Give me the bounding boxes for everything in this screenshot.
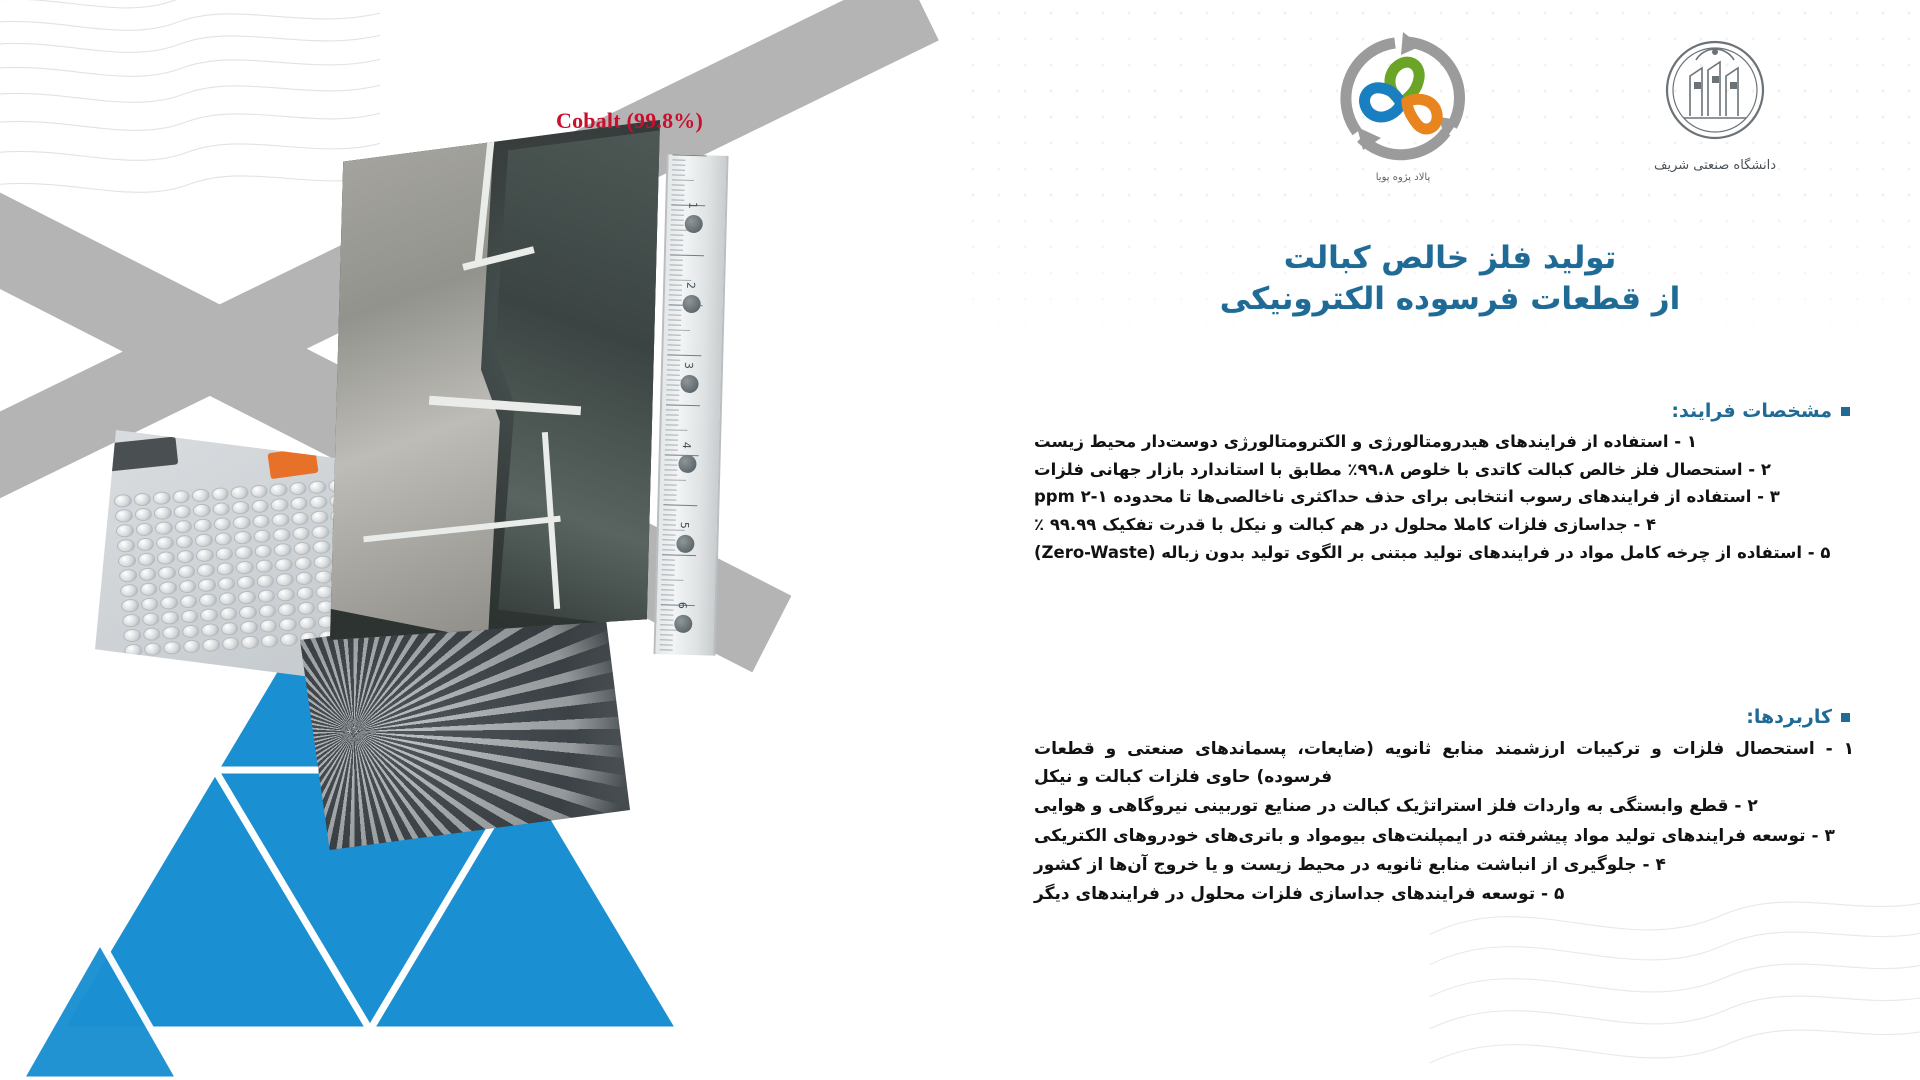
- ruler-tick: [665, 429, 687, 431]
- section-process-heading-text: مشخصات فرایند:: [1671, 400, 1832, 422]
- battery-cell: [220, 622, 238, 636]
- page-title-line-2: از قطعات فرسوده الکترونیکی: [1050, 279, 1850, 320]
- battery-cell: [256, 574, 274, 588]
- ruler-tick: [664, 489, 677, 490]
- ruler-tick: [671, 224, 684, 225]
- ruler-tick: [670, 264, 683, 265]
- ruler-tick: [662, 544, 675, 545]
- ruler-tick: [671, 214, 684, 215]
- page-title-line-1: تولید فلز خالص کبالت: [1284, 240, 1617, 276]
- ruler-tick: [668, 324, 681, 325]
- battery-cell: [251, 499, 269, 513]
- ruler-tick: [662, 554, 696, 556]
- ruler-tick: [663, 504, 697, 506]
- ruler-tick: [665, 449, 678, 450]
- ruler-tick: [666, 409, 679, 410]
- battery-cell: [313, 540, 331, 554]
- battery-cell: [152, 491, 170, 505]
- battery-cell: [241, 635, 259, 649]
- battery-cell: [216, 562, 234, 576]
- page-title: تولید فلز خالص کبالت از قطعات فرسوده الک…: [1050, 238, 1850, 320]
- battery-cell: [217, 577, 235, 591]
- ruler-tick: [662, 569, 675, 570]
- battery-cell: [252, 514, 270, 528]
- ruler-tick: [669, 284, 682, 285]
- ruler-tick: [661, 589, 674, 590]
- list-item: ۵ - توسعه فرایندهای جداسازی فلزات محلول …: [1034, 880, 1854, 908]
- ruler-tick: [664, 484, 677, 485]
- ruler-number: 1: [686, 202, 699, 209]
- ruler-tick: [672, 174, 685, 175]
- battery-cell: [273, 528, 291, 542]
- ruler-tick: [666, 414, 679, 415]
- ruler-tick: [671, 194, 684, 195]
- ruler-tick: [668, 344, 681, 345]
- battery-cell: [309, 495, 327, 509]
- battery-cell: [237, 575, 255, 589]
- ruler-tick: [664, 479, 686, 481]
- battery-cell: [235, 546, 253, 560]
- battery-cell: [158, 566, 176, 580]
- sharif-logo-caption: دانشگاه صنعتی شریف: [1620, 158, 1810, 173]
- ruler-tick: [671, 209, 684, 210]
- battery-cell: [231, 501, 249, 515]
- ruler-tick: [667, 359, 680, 360]
- battery-cell: [218, 592, 236, 606]
- ruler-tick: [670, 239, 683, 240]
- ruler-tick: [670, 234, 683, 235]
- ruler-hole: [682, 295, 700, 313]
- poster-canvas: 123456 Cobalt (99.8%): [0, 0, 1920, 1080]
- list-item: ۳ - استفاده از فرایندهای رسوب انتخابی بر…: [1034, 484, 1854, 511]
- battery-cell: [234, 531, 252, 545]
- ruler-tick: [672, 159, 685, 160]
- battery-cell: [257, 589, 275, 603]
- battery-cell: [177, 565, 195, 579]
- battery-cell: [155, 521, 173, 535]
- battery-cell: [200, 608, 218, 622]
- section-applications-list: ۱ - استحصال فلزات و ترکیبات ارزشمند مناب…: [1034, 735, 1854, 908]
- ruler-tick: [660, 624, 673, 625]
- battery-cell: [199, 593, 217, 607]
- battery-cell: [240, 620, 258, 634]
- ruler-tick: [669, 299, 682, 300]
- battery-cell: [290, 497, 308, 511]
- battery-cell: [274, 543, 292, 557]
- battery-cell: [139, 582, 157, 596]
- battery-cell: [134, 507, 152, 521]
- ruler-tick: [661, 599, 674, 600]
- ruler-tick: [667, 384, 680, 385]
- battery-cell: [250, 484, 268, 498]
- ruler-hole: [685, 215, 703, 233]
- ruler-tick: [660, 639, 673, 640]
- battery-cell: [236, 561, 254, 575]
- ruler-number: 4: [680, 442, 693, 449]
- battery-cell: [160, 596, 178, 610]
- section-process-list: ۱ - استفاده از فرایندهای هیدرومتالورژی و…: [1034, 429, 1854, 567]
- content-panel: پالاد پژوه پویا: [960, 0, 1920, 1080]
- battery-cell: [308, 480, 326, 494]
- ruler-tick: [664, 469, 677, 470]
- sharif-university-logo: دانشگاه صنعتی شریف: [1620, 30, 1810, 195]
- list-item: ۴ - جداسازی فلزات کاملا محلول در هم کبال…: [1034, 512, 1854, 539]
- ruler-hole: [674, 615, 692, 633]
- cobalt-cathode-sample-photo: [330, 120, 660, 640]
- ruler-tick: [670, 259, 683, 260]
- list-item: ۴ - جلوگیری از انباشت منابع ثانویه در مح…: [1034, 851, 1854, 879]
- battery-cell: [254, 544, 272, 558]
- battery-cell: [178, 580, 196, 594]
- battery-cell: [118, 554, 136, 568]
- logo-row: پالاد پژوه پویا: [1220, 18, 1860, 198]
- square-bullet-icon: [1841, 407, 1850, 416]
- battery-cell: [232, 516, 250, 530]
- battery-cell: [296, 586, 314, 600]
- battery-cell: [153, 506, 171, 520]
- ruler-tick: [666, 389, 679, 390]
- ruler-number: 2: [684, 282, 697, 289]
- ruler-tick: [667, 354, 701, 356]
- battery-cell: [192, 503, 210, 517]
- ruler-tick: [671, 199, 684, 200]
- battery-cell: [113, 494, 131, 508]
- ruler-tick: [665, 424, 678, 425]
- battery-cell: [195, 533, 213, 547]
- battery-cell: [156, 536, 174, 550]
- battery-cell: [289, 482, 307, 496]
- ruler-tick: [663, 534, 676, 535]
- battery-cell: [314, 555, 332, 569]
- battery-cell: [179, 595, 197, 609]
- ruler-tick: [670, 269, 683, 270]
- ruler-tick: [663, 519, 676, 520]
- ruler-tick: [661, 594, 674, 595]
- ruler-number: 6: [676, 602, 689, 609]
- battery-cell: [277, 588, 295, 602]
- ruler-tick: [670, 254, 704, 256]
- ruler-tick: [670, 244, 683, 245]
- battery-cell: [253, 529, 271, 543]
- ruler-tick: [668, 319, 681, 320]
- battery-cell: [291, 512, 309, 526]
- battery-cell: [293, 541, 311, 555]
- square-bullet-icon: [1841, 713, 1850, 722]
- battery-cell: [258, 604, 276, 618]
- battery-cell: [298, 616, 316, 630]
- battery-cell: [133, 493, 151, 507]
- ruler-tick: [663, 529, 685, 531]
- list-item: ۲ - قطع وابستگی به واردات فلز استراتژیک …: [1034, 792, 1854, 820]
- battery-cell: [292, 526, 310, 540]
- university-emblem-icon: [1650, 30, 1780, 158]
- battery-cell: [117, 539, 135, 553]
- ruler-tick: [660, 614, 673, 615]
- list-item: ۳ - توسعه فرایندهای تولید مواد پیشرفته د…: [1034, 822, 1854, 850]
- ruler-tick: [666, 399, 679, 400]
- ruler-tick: [672, 179, 694, 181]
- ruler-tick: [665, 444, 678, 445]
- ruler-tick: [668, 339, 681, 340]
- ruler-tick: [661, 609, 674, 610]
- battery-cell: [172, 490, 190, 504]
- list-item: ۱ - استفاده از فرایندهای هیدرومتالورژی و…: [1034, 429, 1854, 456]
- section-applications-heading: کاربردها:: [1034, 706, 1854, 728]
- battery-cell: [180, 609, 198, 623]
- image-collage-panel: 123456 Cobalt (99.8%): [0, 0, 980, 1080]
- ruler-tick: [667, 364, 680, 365]
- battery-cell: [140, 597, 158, 611]
- ruler-tick: [669, 274, 682, 275]
- battery-cell: [159, 581, 177, 595]
- recycle-arrows-icon: [1333, 28, 1473, 166]
- battery-cell: [141, 612, 159, 626]
- battery-cell: [193, 518, 211, 532]
- list-item: ۱ - استحصال فلزات و ترکیبات ارزشمند مناب…: [1034, 735, 1854, 791]
- battery-cell: [114, 509, 132, 523]
- ruler-tick: [664, 464, 677, 465]
- battery-cell: [142, 627, 160, 641]
- ruler-hole: [678, 455, 696, 473]
- ruler-tick: [668, 309, 681, 310]
- recycle-logo-caption: پالاد پژوه پویا: [1328, 172, 1478, 183]
- battery-cell: [116, 524, 134, 538]
- ruler-hole: [676, 535, 694, 553]
- ruler-tick: [672, 184, 685, 185]
- battery-cell: [122, 614, 140, 628]
- battery-cell: [270, 498, 288, 512]
- ruler-tick: [662, 549, 675, 550]
- ruler-tick: [668, 314, 681, 315]
- battery-cell: [213, 517, 231, 531]
- cobalt-purity-label: Cobalt (99.8%): [556, 108, 703, 134]
- ruler-tick: [667, 374, 680, 375]
- ruler-tick: [661, 579, 683, 581]
- ruler-tick: [666, 404, 700, 406]
- ruler-tick: [672, 189, 685, 190]
- battery-cell: [121, 599, 139, 613]
- battery-cell: [182, 639, 200, 653]
- battery-cell: [181, 624, 199, 638]
- battery-cell: [215, 547, 233, 561]
- ruler-tick: [661, 584, 674, 585]
- section-applications-heading-text: کاربردها:: [1746, 706, 1832, 728]
- ruler-tick: [669, 294, 682, 295]
- battery-cell: [163, 641, 181, 655]
- ruler-tick: [664, 494, 677, 495]
- ruler-tick: [672, 164, 685, 165]
- battery-cell: [219, 607, 237, 621]
- ruler-tick: [662, 564, 675, 565]
- battery-cell: [174, 520, 192, 534]
- ruler-tick: [662, 574, 675, 575]
- battery-cell: [198, 578, 216, 592]
- ruler-tick: [664, 474, 677, 475]
- ruler-tick: [663, 499, 676, 500]
- ruler-number: 3: [682, 362, 695, 369]
- ruler-tick: [660, 634, 673, 635]
- ruler-tick: [665, 434, 678, 435]
- ruler-tick: [669, 279, 691, 281]
- battery-cell: [295, 571, 313, 585]
- ruler-tick: [671, 219, 684, 220]
- battery-cell: [175, 535, 193, 549]
- section-process-heading: مشخصات فرایند:: [1034, 400, 1854, 422]
- ruler-tick: [672, 169, 685, 170]
- battery-cell: [157, 551, 175, 565]
- battery-cell: [259, 619, 277, 633]
- battery-cell: [162, 626, 180, 640]
- battery-cell: [315, 570, 333, 584]
- battery-cell: [214, 532, 232, 546]
- section-process: مشخصات فرایند: ۱ - استفاده از فرایندهای …: [1034, 400, 1854, 568]
- ruler-tick: [670, 249, 683, 250]
- list-item: ۲ - استحصال فلز خالص کبالت کاتدی با خلوص…: [1034, 457, 1854, 484]
- battery-cell: [276, 573, 294, 587]
- battery-cell: [212, 502, 230, 516]
- battery-cell: [161, 611, 179, 625]
- ruler-tick: [668, 334, 681, 335]
- battery-cell: [294, 556, 312, 570]
- ruler-tick: [662, 559, 675, 560]
- ruler-tick: [667, 349, 680, 350]
- section-applications: کاربردها: ۱ - استحصال فلزات و ترکیبات ار…: [1034, 706, 1854, 909]
- battery-cell: [137, 552, 155, 566]
- ruler-tick: [667, 369, 680, 370]
- ruler-tick: [660, 649, 673, 650]
- battery-cell: [255, 559, 273, 573]
- battery-cell: [202, 638, 220, 652]
- battery-cell: [275, 558, 293, 572]
- ruler-tick: [666, 419, 679, 420]
- battery-cell: [211, 487, 229, 501]
- ruler-tick: [663, 514, 676, 515]
- battery-cell: [230, 486, 248, 500]
- ruler-tick: [663, 509, 676, 510]
- battery-cell: [123, 629, 141, 643]
- ruler-tick: [665, 439, 678, 440]
- battery-cell: [310, 510, 328, 524]
- recycle-logo: پالاد پژوه پویا: [1328, 28, 1478, 198]
- battery-cell: [119, 569, 137, 583]
- battery-cell: [197, 563, 215, 577]
- ruler-number: 5: [678, 522, 691, 529]
- ruler-tick: [660, 619, 673, 620]
- battery-cell: [260, 634, 278, 648]
- list-item: ۵ - استفاده از چرخه کامل مواد در فراینده…: [1034, 540, 1854, 567]
- battery-cell: [201, 623, 219, 637]
- battery-cell: [271, 513, 289, 527]
- battery-cell: [135, 522, 153, 536]
- ruler-tick: [662, 539, 675, 540]
- battery-cell: [196, 548, 214, 562]
- battery-cell: [221, 637, 239, 651]
- battery-cell: [176, 550, 194, 564]
- battery-cell: [280, 633, 298, 647]
- ruler-tick: [663, 524, 676, 525]
- battery-cell: [297, 601, 315, 615]
- battery-cell: [138, 567, 156, 581]
- battery-cell: [279, 618, 297, 632]
- measuring-ruler-photo: 123456: [653, 154, 728, 655]
- battery-cell: [173, 505, 191, 519]
- ruler-tick: [660, 644, 673, 645]
- battery-cell: [311, 525, 329, 539]
- battery-cell: [239, 605, 257, 619]
- ruler-tick: [669, 289, 682, 290]
- ruler-hole: [680, 375, 698, 393]
- battery-cell: [120, 584, 138, 598]
- battery-cell: [136, 537, 154, 551]
- battery-cell: [238, 590, 256, 604]
- battery-cell: [269, 483, 287, 497]
- battery-cell: [278, 603, 296, 617]
- ruler-tick: [666, 394, 679, 395]
- battery-cell: [191, 488, 209, 502]
- battery-cell: [143, 642, 161, 656]
- ruler-tick: [665, 459, 678, 460]
- ruler-tick: [668, 329, 690, 331]
- ruler-tick: [673, 154, 707, 156]
